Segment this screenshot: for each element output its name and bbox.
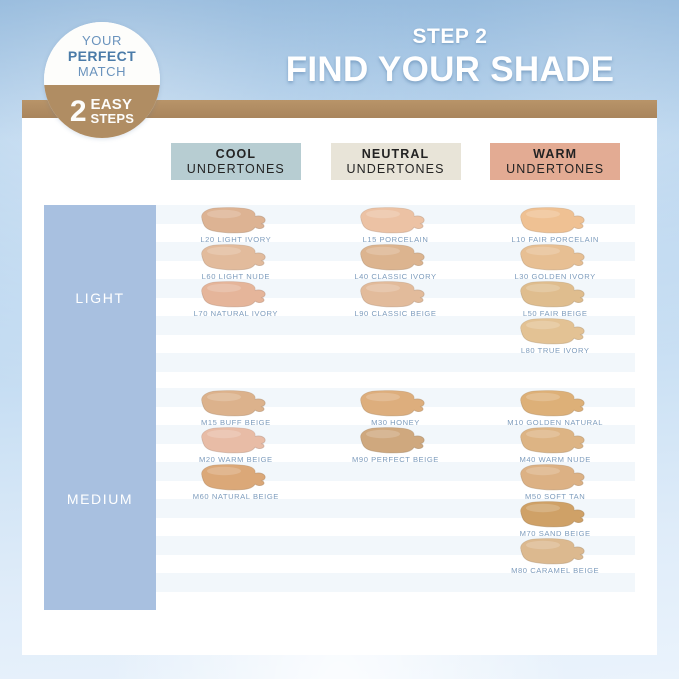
undertone-sub: UNDERTONES xyxy=(346,162,444,177)
shade-cell[interactable]: M50 SOFT TAN xyxy=(475,463,635,501)
undertone-header-neutral: NEUTRALUNDERTONES xyxy=(331,143,461,180)
foundation-swatch-icon xyxy=(349,426,441,454)
shade-cell[interactable]: M40 WARM NUDE xyxy=(475,426,635,464)
shade-swatch xyxy=(190,206,282,234)
foundation-swatch-icon xyxy=(190,426,282,454)
shade-swatch xyxy=(349,426,441,454)
shade-cell[interactable]: M20 WARM BEIGE xyxy=(156,426,316,464)
foundation-swatch-icon xyxy=(190,206,282,234)
shade-swatch xyxy=(349,389,441,417)
foundation-swatch-icon xyxy=(509,537,601,565)
shade-cell[interactable]: M60 NATURAL BEIGE xyxy=(156,463,316,501)
badge-easy-label: EASY xyxy=(91,97,133,112)
shade-cell[interactable]: M10 GOLDEN NATURAL xyxy=(475,389,635,427)
shade-swatch xyxy=(509,206,601,234)
foundation-swatch-icon xyxy=(509,426,601,454)
shade-swatch xyxy=(349,243,441,271)
shade-cell[interactable]: L50 FAIR BEIGE xyxy=(475,280,635,318)
undertone-name: NEUTRAL xyxy=(362,147,429,162)
foundation-swatch-icon xyxy=(509,317,601,345)
foundation-swatch-icon xyxy=(509,500,601,528)
foundation-swatch-icon xyxy=(349,206,441,234)
shade-cell[interactable]: M90 PERFECT BEIGE xyxy=(316,426,476,464)
shade-swatch xyxy=(349,206,441,234)
undertone-sub: UNDERTONES xyxy=(506,162,604,177)
shade-swatch xyxy=(190,243,282,271)
badge-line-your: YOUR xyxy=(82,34,122,49)
foundation-swatch-icon xyxy=(509,463,601,491)
undertone-name: COOL xyxy=(216,147,257,162)
shade-cell[interactable]: M70 SAND BEIGE xyxy=(475,500,635,538)
undertone-header-warm: WARMUNDERTONES xyxy=(490,143,620,180)
shade-swatch xyxy=(190,389,282,417)
badge-top-half: YOUR PERFECT MATCH xyxy=(44,22,160,85)
foundation-swatch-icon xyxy=(349,389,441,417)
shade-cell[interactable]: L20 LIGHT IVORY xyxy=(156,206,316,244)
shade-swatch xyxy=(509,280,601,308)
foundation-swatch-icon xyxy=(190,389,282,417)
shade-label: L80 TRUE IVORY xyxy=(475,346,635,355)
badge-bottom-half: 2 EASY STEPS xyxy=(44,85,160,138)
foundation-swatch-icon xyxy=(190,280,282,308)
shade-swatch xyxy=(190,280,282,308)
shade-label: M90 PERFECT BEIGE xyxy=(316,455,476,464)
shade-swatch xyxy=(190,426,282,454)
shade-swatch xyxy=(509,463,601,491)
shade-cell[interactable]: L10 FAIR PORCELAIN xyxy=(475,206,635,244)
foundation-swatch-icon xyxy=(509,280,601,308)
badge-line-perfect: PERFECT xyxy=(68,48,136,65)
shade-cell[interactable]: L15 PORCELAIN xyxy=(316,206,476,244)
shade-cell[interactable]: L90 CLASSIC BEIGE xyxy=(316,280,476,318)
shade-swatch xyxy=(509,537,601,565)
header-block: STEP 2 FIND YOUR SHADE xyxy=(250,26,650,89)
foundation-swatch-icon xyxy=(509,206,601,234)
shade-swatch xyxy=(509,243,601,271)
shade-cell[interactable]: M80 CARAMEL BEIGE xyxy=(475,537,635,575)
shade-cell[interactable]: L60 LIGHT NUDE xyxy=(156,243,316,281)
level-label: LIGHT xyxy=(75,290,124,306)
foundation-swatch-icon xyxy=(190,463,282,491)
shade-label: L90 CLASSIC BEIGE xyxy=(316,309,476,318)
undertone-header-cool: COOLUNDERTONES xyxy=(171,143,301,180)
level-label: MEDIUM xyxy=(67,491,133,507)
shade-cell[interactable]: L80 TRUE IVORY xyxy=(475,317,635,355)
step-label: STEP 2 xyxy=(250,26,650,47)
infographic-root: STEP 2 FIND YOUR SHADE YOUR PERFECT MATC… xyxy=(0,0,679,679)
shade-cell[interactable]: L40 CLASSIC IVORY xyxy=(316,243,476,281)
undertone-sub: UNDERTONES xyxy=(187,162,285,177)
shade-cell[interactable]: L70 NATURAL IVORY xyxy=(156,280,316,318)
shade-label: M80 CARAMEL BEIGE xyxy=(475,566,635,575)
badge-line-match: MATCH xyxy=(78,65,126,80)
shade-cell[interactable]: L30 GOLDEN IVORY xyxy=(475,243,635,281)
shade-swatch xyxy=(509,500,601,528)
badge-steps-label: STEPS xyxy=(91,112,135,126)
badge-step-number: 2 xyxy=(70,98,87,126)
shade-swatch xyxy=(509,426,601,454)
level-panel-light: LIGHT xyxy=(44,205,156,390)
foundation-swatch-icon xyxy=(349,280,441,308)
foundation-swatch-icon xyxy=(509,243,601,271)
badge-steps-text: EASY STEPS xyxy=(91,97,135,126)
foundation-swatch-icon xyxy=(349,243,441,271)
shade-label: M60 NATURAL BEIGE xyxy=(156,492,316,501)
undertone-name: WARM xyxy=(533,147,577,162)
shade-swatch xyxy=(509,389,601,417)
shade-swatch xyxy=(349,280,441,308)
shade-swatch xyxy=(190,463,282,491)
shade-label: L70 NATURAL IVORY xyxy=(156,309,316,318)
foundation-swatch-icon xyxy=(509,389,601,417)
page-title: FIND YOUR SHADE xyxy=(250,50,650,89)
foundation-swatch-icon xyxy=(190,243,282,271)
shade-swatch xyxy=(509,317,601,345)
shade-cell[interactable]: M15 BUFF BEIGE xyxy=(156,389,316,427)
level-panel-medium: MEDIUM xyxy=(44,388,156,610)
shade-cell[interactable]: M30 HONEY xyxy=(316,389,476,427)
perfect-match-badge: YOUR PERFECT MATCH 2 EASY STEPS xyxy=(44,22,160,138)
